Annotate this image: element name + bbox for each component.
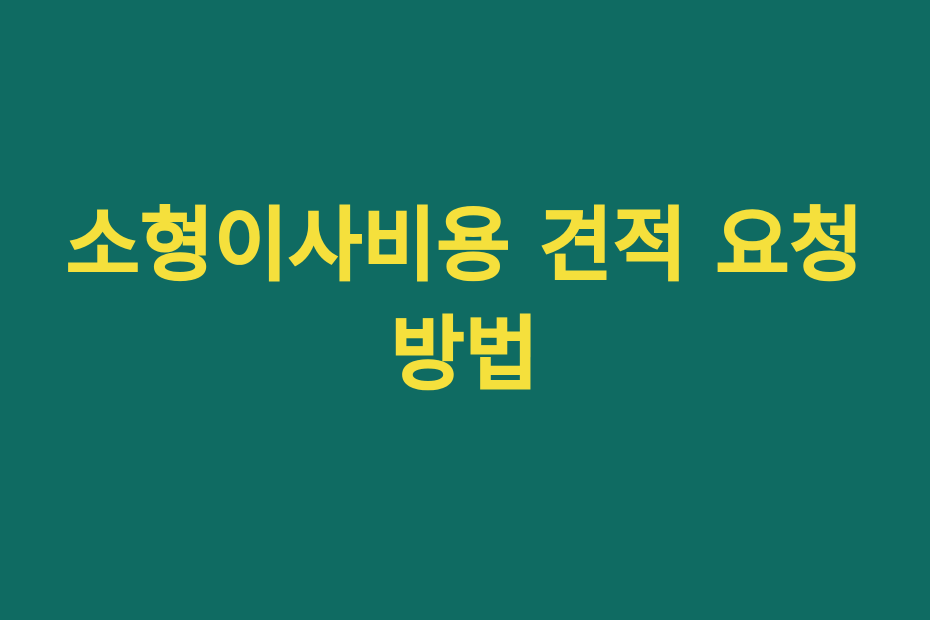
page-title: 소형이사비용 견적 요청 방법	[62, 192, 868, 410]
title-card: 소형이사비용 견적 요청 방법	[0, 0, 930, 620]
title-text-block: 소형이사비용 견적 요청 방법	[0, 192, 930, 410]
